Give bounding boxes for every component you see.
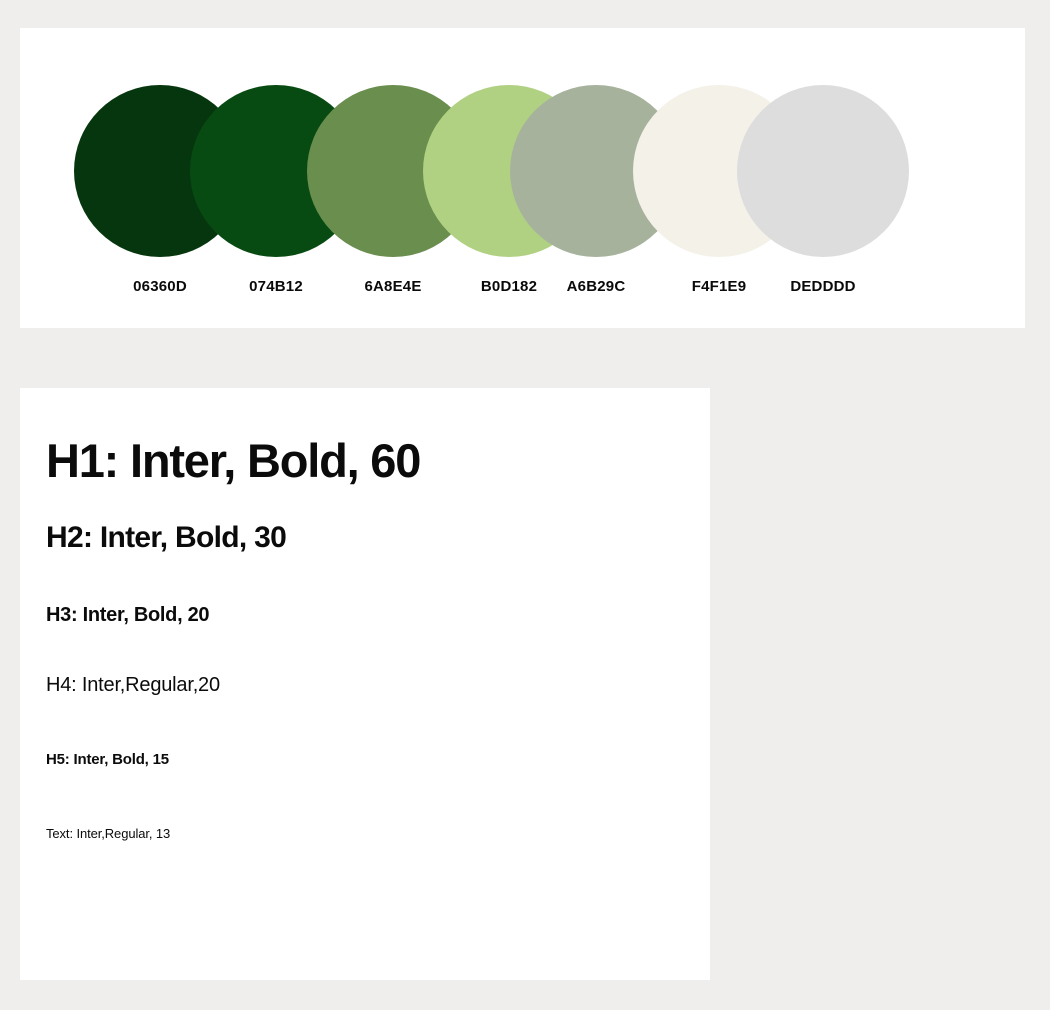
type-specimen-body: Text: Inter,Regular, 13 bbox=[46, 826, 170, 841]
typography-card: H1: Inter, Bold, 60 H2: Inter, Bold, 30 … bbox=[20, 388, 710, 980]
color-swatch-dedddd[interactable] bbox=[737, 85, 909, 257]
type-specimen-h2: H2: Inter, Bold, 30 bbox=[46, 521, 286, 555]
color-swatch-label-row: 06360D074B126A8E4EB0D182A6B29CF4F1E9DEDD… bbox=[20, 278, 1025, 308]
color-swatch-row bbox=[20, 28, 1025, 288]
type-specimen-h4: H4: Inter,Regular,20 bbox=[46, 674, 220, 697]
type-specimen-h1: H1: Inter, Bold, 60 bbox=[46, 433, 420, 488]
color-palette-card: 06360D074B126A8E4EB0D182A6B29CF4F1E9DEDD… bbox=[20, 28, 1025, 328]
type-specimen-h5: H5: Inter, Bold, 15 bbox=[46, 751, 169, 768]
color-swatch-label-dedddd: DEDDDD bbox=[737, 278, 909, 295]
type-specimen-h3: H3: Inter, Bold, 20 bbox=[46, 604, 209, 627]
